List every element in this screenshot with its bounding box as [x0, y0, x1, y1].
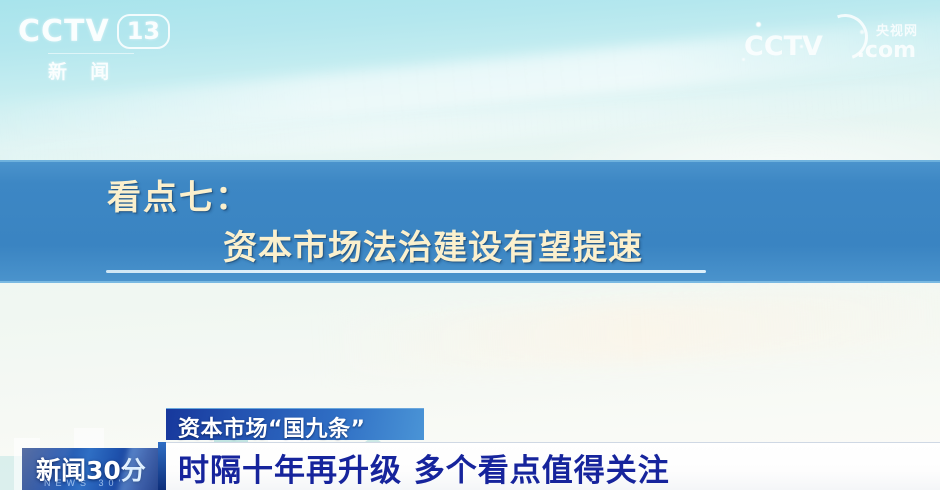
main-title-banner: 看点七： 资本市场法治建设有望提速	[0, 160, 940, 283]
cctv13-channel-logo: CCTV 13 新 闻	[18, 14, 170, 84]
banner-underline-rule	[106, 270, 706, 273]
cctv-com-wordmark: CCTV	[744, 31, 823, 62]
topic-bar: 资本市场“国九条”	[166, 408, 424, 440]
cctv13-subtitle: 新 闻	[48, 53, 134, 84]
channel-number-badge: 13	[117, 14, 170, 49]
cctv13-logo-row: CCTV 13	[18, 14, 170, 49]
cctv-com-chinese-label: 央视网	[876, 20, 918, 39]
headline-label: 时隔十年再升级 多个看点值得关注	[178, 445, 670, 490]
cctv-wordmark: CCTV	[18, 17, 110, 47]
cctv-com-domain: .com	[857, 38, 916, 63]
topic-label: 资本市场“国九条”	[178, 411, 365, 443]
broadcast-screen: CCTV 13 新 闻 央视网 CCTV .com 看点七： 资本市场法治建设有…	[0, 0, 940, 490]
cctv-com-watermark: 央视网 CCTV .com	[744, 12, 924, 66]
headline-bar: 时隔十年再升级 多个看点值得关注	[166, 442, 940, 490]
program-logo-english: NEWS 30'	[44, 478, 125, 488]
banner-kicker-text: 看点七：	[107, 170, 251, 219]
warm-glow-decoration	[319, 282, 940, 379]
banner-headline-text: 资本市场法治建设有望提速	[223, 220, 643, 269]
program-logo-badge: 新闻30分 NEWS 30'	[22, 448, 166, 490]
